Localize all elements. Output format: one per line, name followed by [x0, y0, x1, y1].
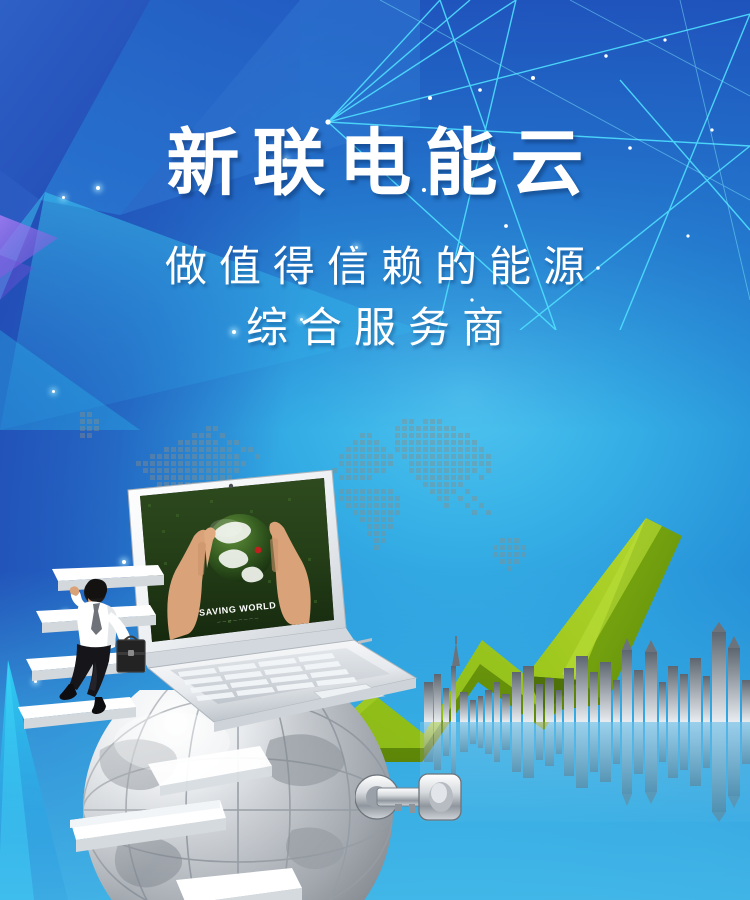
network-constellation-icon [320, 0, 750, 330]
sparkle-dot [355, 246, 358, 249]
businessman-icon [55, 578, 147, 728]
promo-poster: SAVING WORLD — — — — — — — — [0, 0, 750, 900]
sparkle-dot [300, 318, 303, 321]
sparkle-dot [232, 330, 236, 334]
sparkle-dot [284, 158, 287, 161]
sparkle-dot [96, 186, 100, 190]
sparkle-dot [62, 196, 65, 199]
sparkle-dot [52, 390, 55, 393]
